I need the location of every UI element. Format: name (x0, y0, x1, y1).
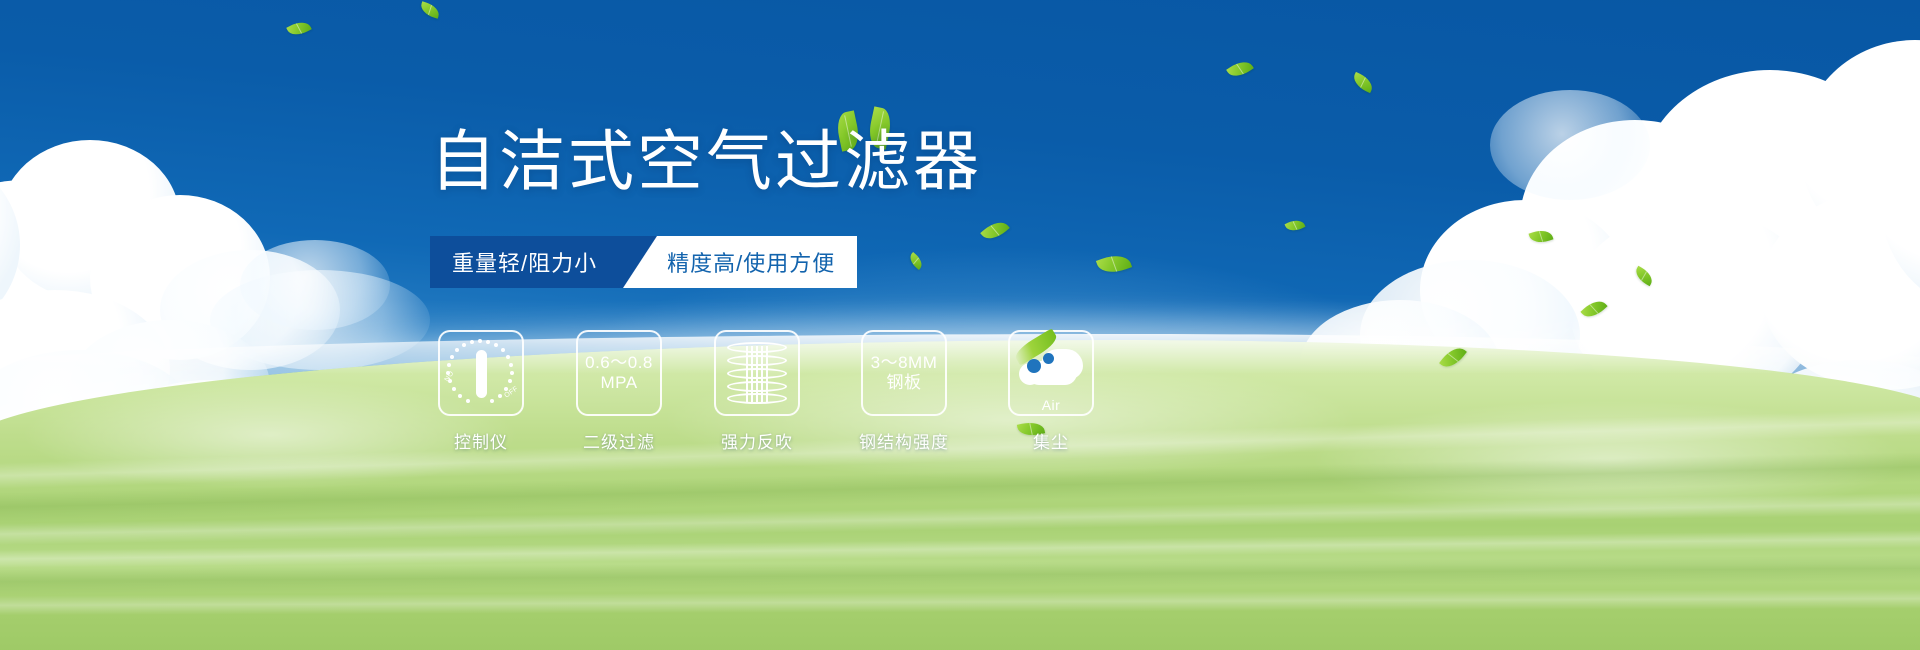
feature-item-backblow: 强力反吹 (714, 330, 800, 453)
air-label: Air (1017, 397, 1085, 413)
feature-box: NO OFF (438, 330, 524, 416)
page-title: 自洁式空气过滤器 (430, 128, 982, 194)
feature-box: 0.6～0.8 MPA (576, 330, 662, 416)
filter-cartridge-icon (727, 342, 787, 404)
feature-caption: 强力反吹 (721, 428, 793, 453)
feature-item-controller: NO OFF 控制仪 (438, 330, 524, 453)
feature-list: NO OFF 控制仪 0.6～0.8 MPA 二级过滤 (438, 330, 1094, 453)
feature-caption: 控制仪 (454, 428, 508, 453)
feature-item-steel: 3～8MM 钢板 钢结构强度 (852, 330, 956, 453)
gauge-needle (476, 350, 487, 398)
feature-caption: 钢结构强度 (859, 428, 949, 453)
feature-caption: 二级过滤 (583, 428, 655, 453)
hero-banner: 自洁式空气过滤器 重量轻/阻力小 精度高/使用方便 (0, 0, 1920, 650)
feature-item-pressure: 0.6～0.8 MPA 二级过滤 (576, 330, 662, 453)
feature-box (714, 330, 800, 416)
air-cloud-icon: Air (1017, 345, 1085, 401)
feature-box-text: 3～8MM 钢板 (871, 353, 938, 393)
subtitle-tag-left: 重量轻/阻力小 (430, 236, 623, 288)
feature-caption: 集尘 (1033, 428, 1069, 453)
subtitle-slant-divider (623, 236, 657, 288)
subtitle-tag-group: 重量轻/阻力小 精度高/使用方便 (430, 236, 857, 288)
subtitle-tag-right: 精度高/使用方便 (657, 236, 857, 288)
feature-box: Air (1008, 330, 1094, 416)
gauge-icon: NO OFF (445, 337, 517, 409)
feature-item-dust: Air 集尘 (1008, 330, 1094, 453)
feature-box: 3～8MM 钢板 (861, 330, 947, 416)
banner-content: 自洁式空气过滤器 重量轻/阻力小 精度高/使用方便 (0, 0, 1920, 650)
feature-box-text: 0.6～0.8 MPA (585, 353, 653, 393)
